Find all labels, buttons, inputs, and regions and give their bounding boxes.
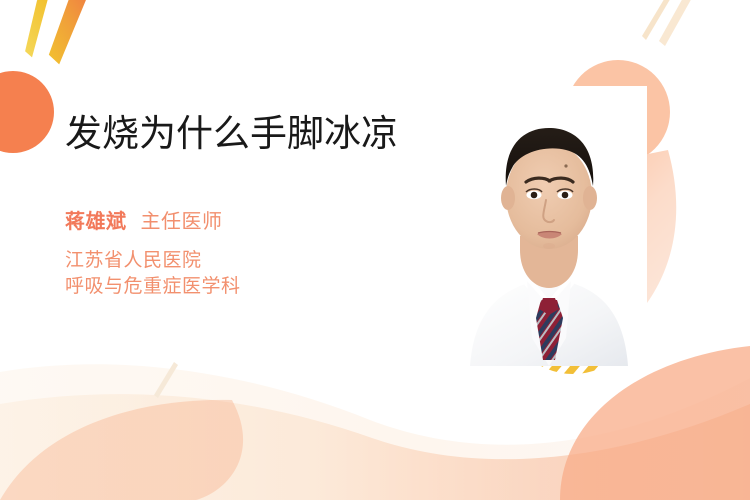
doctor-affiliation: 江苏省人民医院 呼吸与危重症医学科 bbox=[65, 248, 420, 300]
doctor-portrait-illustration bbox=[437, 86, 647, 366]
qa-cover-card: 发烧为什么手脚冰凉 蒋雄斌主任医师 江苏省人民医院 呼吸与危重症医学科 bbox=[0, 0, 750, 500]
doctor-byline: 蒋雄斌主任医师 bbox=[65, 212, 420, 233]
doctor-name: 蒋雄斌 bbox=[65, 211, 127, 233]
doctor-professional-title: 主任医师 bbox=[141, 211, 223, 233]
page-title: 发烧为什么手脚冰凉 bbox=[65, 112, 420, 156]
doctor-hospital: 江苏省人民医院 bbox=[65, 248, 420, 274]
doctor-department: 呼吸与危重症医学科 bbox=[65, 274, 420, 300]
text-block: 发烧为什么手脚冰凉 蒋雄斌主任医师 江苏省人民医院 呼吸与危重症医学科 bbox=[65, 112, 420, 300]
